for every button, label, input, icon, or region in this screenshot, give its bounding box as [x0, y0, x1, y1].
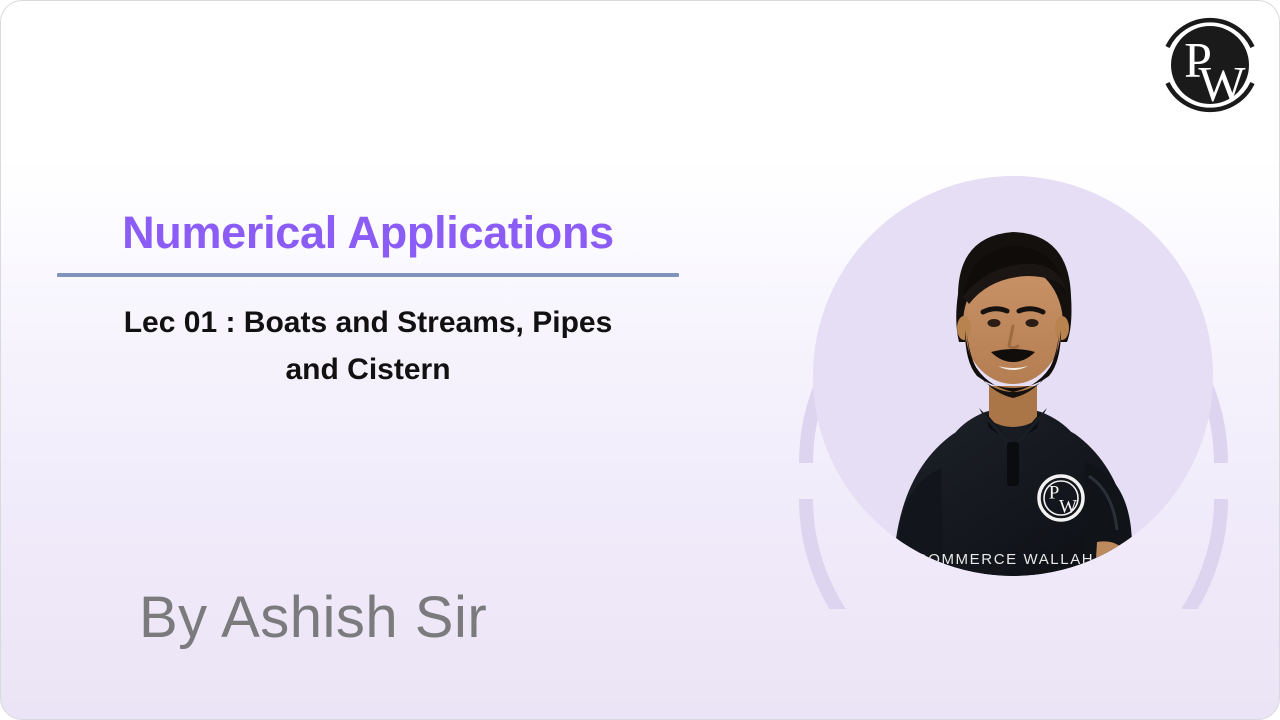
pw-logo-icon: P W — [1154, 9, 1266, 121]
svg-text:P: P — [1049, 482, 1060, 503]
instructor-photo: P W COMMERCE WALLAH — [813, 176, 1213, 576]
title-divider — [57, 273, 679, 277]
svg-text:W: W — [1198, 55, 1246, 111]
presenter-name: By Ashish Sir — [139, 589, 487, 647]
svg-text:W: W — [1059, 496, 1077, 517]
instructor-portrait-block: P W COMMERCE WALLAH — [796, 141, 1231, 609]
lecture-title-slide: P W — [0, 0, 1280, 720]
lecture-subtitle: Lec 01 : Boats and Streams, Pipes and Ci… — [57, 299, 679, 394]
slide-text-block: Numerical Applications Lec 01 : Boats an… — [57, 207, 679, 394]
page-title: Numerical Applications — [57, 207, 679, 259]
